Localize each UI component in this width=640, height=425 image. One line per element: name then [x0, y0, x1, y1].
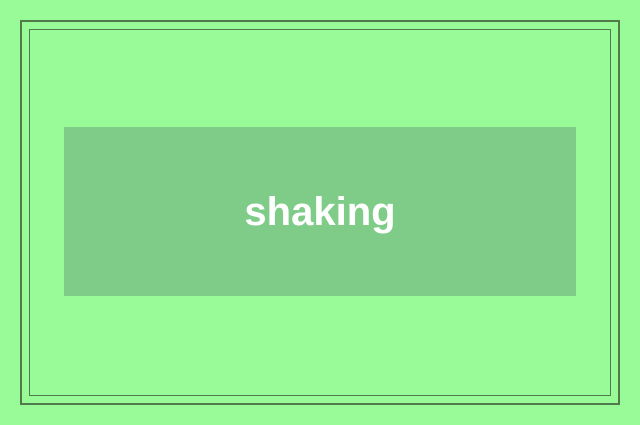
page-root: { "canvas": { "width": 640, "height": 42… [0, 0, 640, 425]
content-panel: shaking [64, 127, 576, 296]
panel-label: shaking [244, 192, 395, 232]
